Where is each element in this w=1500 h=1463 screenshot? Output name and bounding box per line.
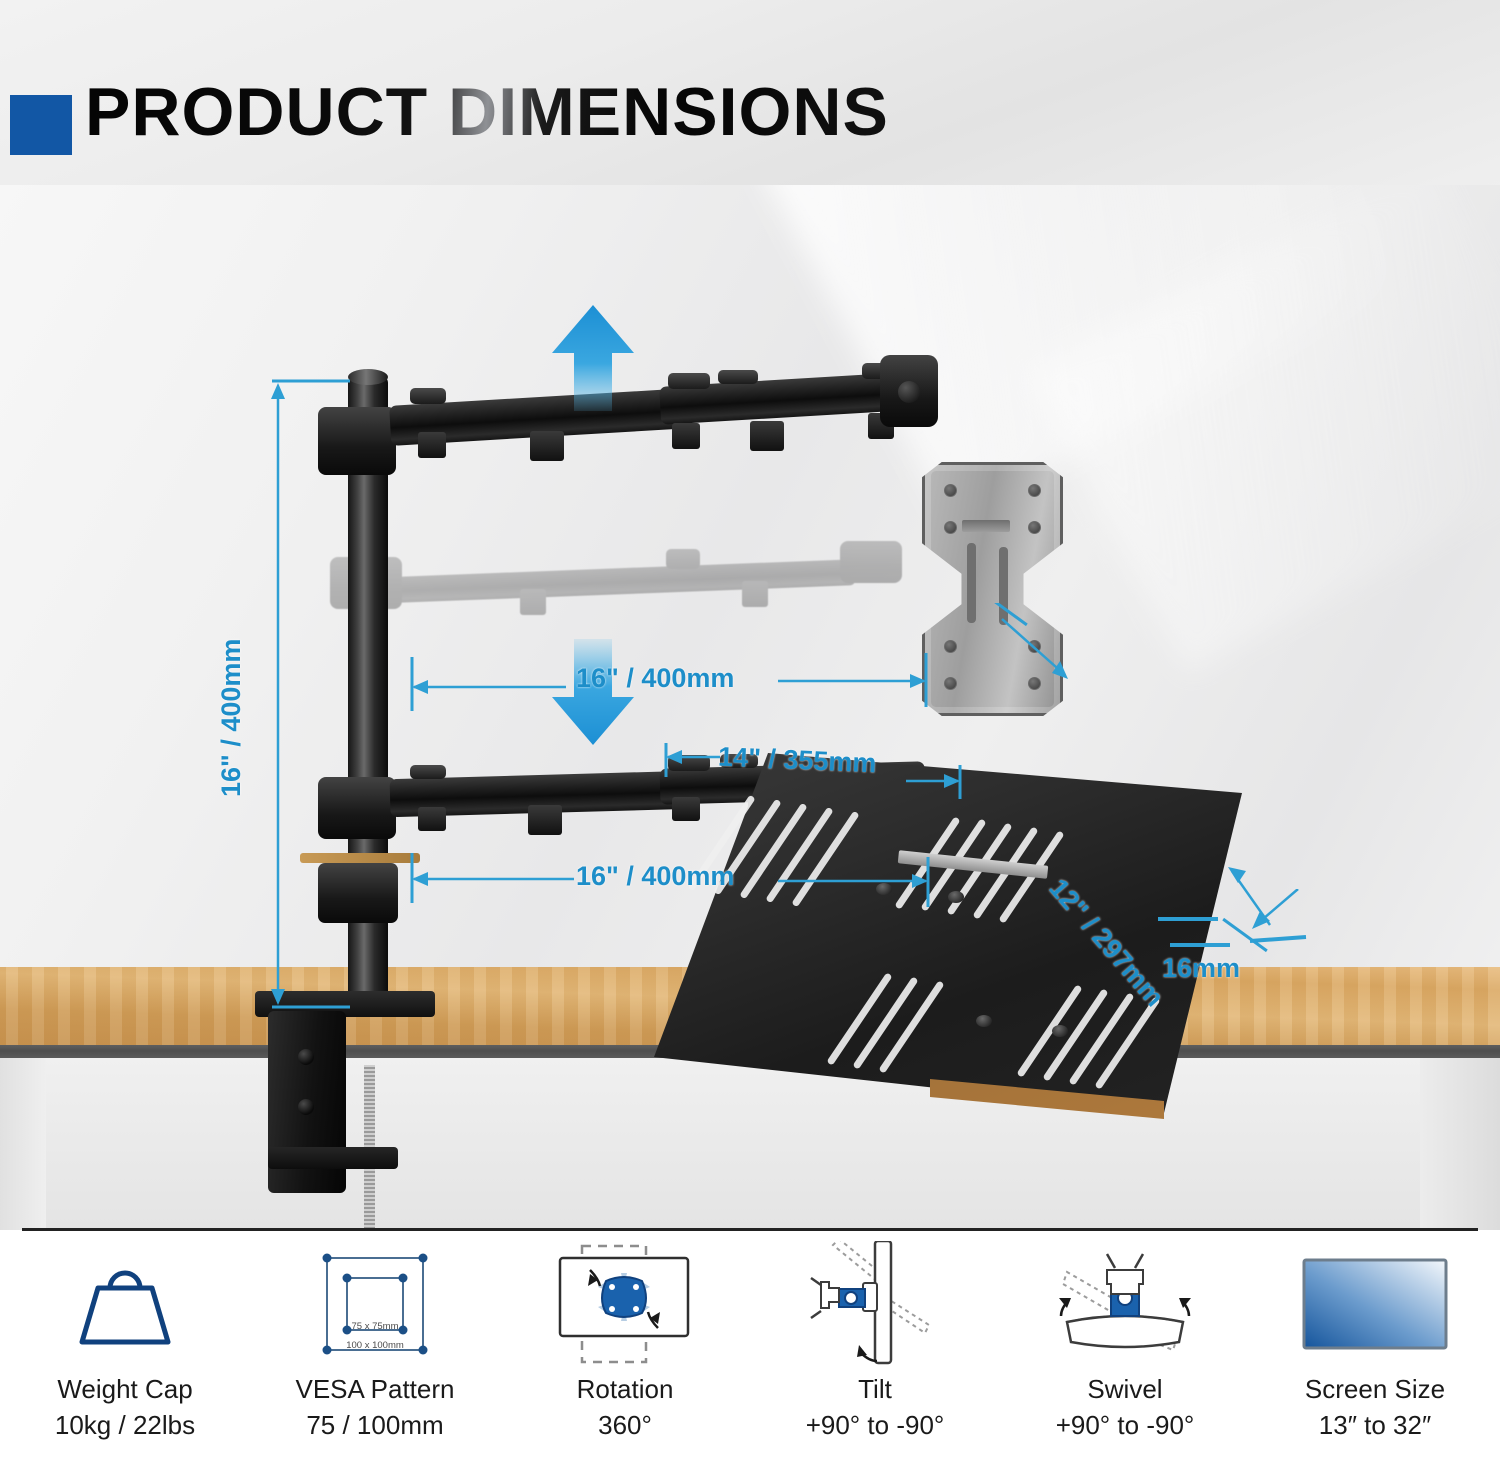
spec-value: 13″ to 32″ — [1319, 1410, 1431, 1441]
vesa-inner-label-large: 100 x 100mm — [346, 1340, 404, 1351]
vesa-hole — [1028, 521, 1041, 534]
tray-screw-hole — [948, 891, 964, 903]
spec-item-weight-cap: Weight Cap 10kg / 22lbs — [0, 1240, 250, 1463]
cable-clip — [530, 431, 564, 461]
vesa-hole — [944, 484, 957, 497]
tray-screw-hole — [1052, 1025, 1068, 1037]
header-banner: PRODUCT DIMENSIONS — [0, 0, 1500, 190]
spec-title: Tilt — [858, 1374, 892, 1405]
vesa-hole — [944, 521, 957, 534]
spec-item-vesa-pattern: 75 x 75mm 100 x 100mm VESA Pattern 75 / … — [250, 1240, 500, 1463]
lower-arm-knob — [410, 765, 446, 779]
spec-title: Weight Cap — [57, 1374, 192, 1405]
vesa-hole — [944, 677, 957, 690]
tilt-icon — [805, 1240, 945, 1368]
spec-item-rotation: Rotation 360° — [500, 1240, 750, 1463]
section-divider — [22, 1228, 1478, 1231]
dimension-height-graphic — [250, 375, 370, 1015]
spec-value: 75 / 100mm — [306, 1410, 443, 1441]
swivel-icon — [1045, 1240, 1205, 1368]
vesa-pattern-icon: 75 x 75mm 100 x 100mm — [313, 1240, 437, 1368]
desk-leg-left — [0, 1055, 46, 1230]
upper-arm-knob — [718, 370, 758, 384]
spec-title: Swivel — [1087, 1374, 1162, 1405]
spec-bar: Weight Cap 10kg / 22lbs 75 x 75mm — [0, 1240, 1500, 1463]
spec-value: +90° to -90° — [806, 1410, 945, 1441]
dimension-height-label: 16" / 400mm — [216, 639, 247, 797]
spec-title: Screen Size — [1305, 1374, 1445, 1405]
screen-size-icon — [1300, 1240, 1450, 1368]
dimension-thickness-label: 16mm — [1162, 953, 1240, 984]
upper-arm-knob — [668, 373, 710, 389]
cable-clip — [418, 432, 446, 458]
clamp-bottom-jaw — [268, 1147, 398, 1169]
dimension-upper-arm-label: 16" / 400mm — [576, 663, 734, 694]
spec-title: Rotation — [577, 1374, 674, 1405]
spec-item-swivel: Swivel +90° to -90° — [1000, 1240, 1250, 1463]
vesa-hole — [1028, 484, 1041, 497]
spec-title: VESA Pattern — [296, 1374, 455, 1405]
weight-icon — [66, 1240, 184, 1368]
cable-clip — [528, 805, 562, 835]
vesa-inner-label-small: 75 x 75mm — [352, 1321, 399, 1332]
product-dimensions-infographic: PRODUCT DIMENSIONS — [0, 0, 1500, 1463]
cable-clip — [672, 423, 700, 449]
cable-clip — [418, 807, 446, 831]
spec-item-tilt: Tilt +90° to -90° — [750, 1240, 1000, 1463]
rotation-icon — [550, 1240, 700, 1368]
cable-clip — [750, 421, 784, 451]
tray-screw-hole — [976, 1015, 992, 1027]
arrow-up-icon — [548, 303, 638, 413]
spec-value: 10kg / 22lbs — [55, 1410, 195, 1441]
product-photo: 16" / 400mm 16" / 400mm 14" / 355mm — [0, 185, 1500, 1230]
header-accent-block — [10, 95, 72, 155]
tilt-pivot-screw — [898, 381, 920, 403]
spec-item-screen-size: Screen Size 13″ to 32″ — [1250, 1240, 1500, 1463]
vesa-slot — [962, 520, 1010, 532]
dimension-lower-arm-label: 16" / 400mm — [576, 861, 734, 892]
upper-arm-knob — [410, 388, 446, 404]
page-title: PRODUCT DIMENSIONS — [85, 78, 889, 146]
vesa-hole — [944, 640, 957, 653]
spec-value: +90° to -90° — [1056, 1410, 1195, 1441]
desk-leg-right — [1420, 1050, 1500, 1230]
spec-value: 360° — [598, 1410, 652, 1441]
